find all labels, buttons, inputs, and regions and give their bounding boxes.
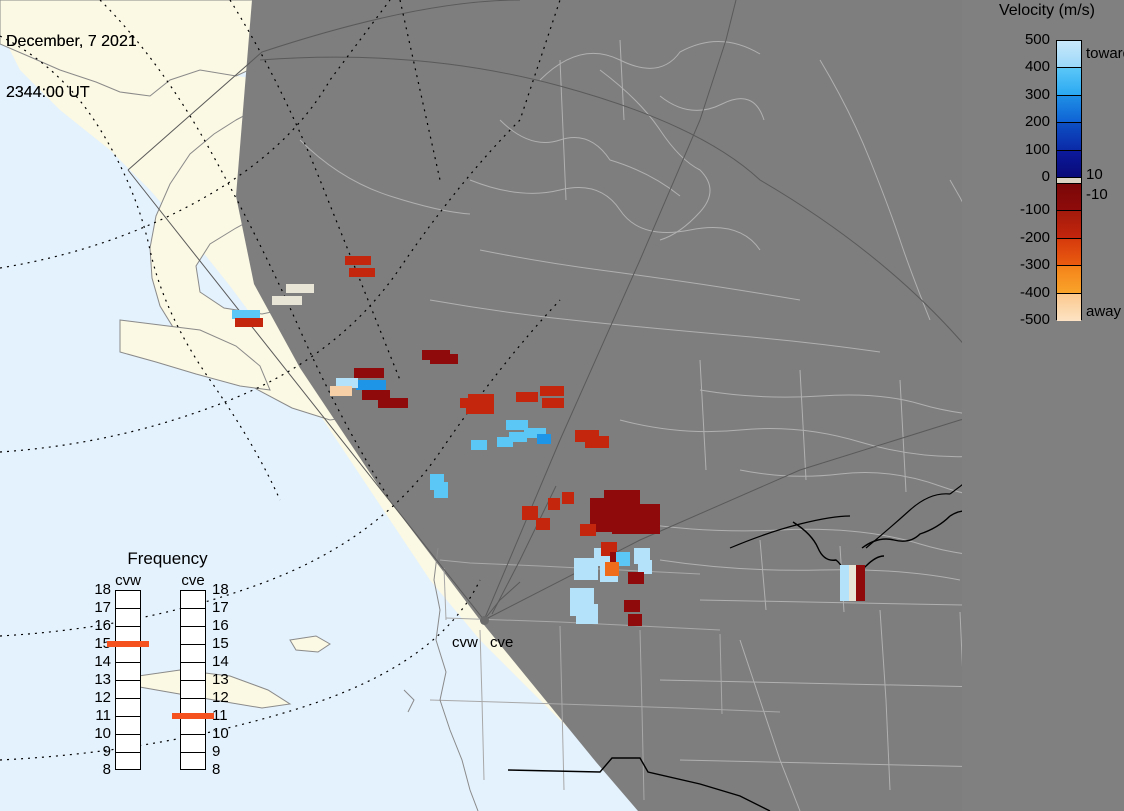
velocity-cell[interactable] bbox=[590, 498, 628, 532]
velocity-cell[interactable] bbox=[286, 284, 314, 293]
ground-scatter-block bbox=[512, 442, 572, 466]
colorbar-tick: 100 bbox=[994, 141, 1050, 158]
colorbar-band bbox=[1057, 294, 1081, 321]
velocity-cell[interactable] bbox=[232, 310, 260, 319]
ground-scatter-block bbox=[610, 580, 652, 602]
velocity-cell[interactable] bbox=[628, 572, 644, 584]
ground-scatter-block bbox=[704, 518, 744, 540]
superdarn-velocity-map: December, 7 2021 2344:00 UT cvw cve Velo… bbox=[0, 0, 1124, 811]
ground-scatter-block bbox=[318, 340, 378, 360]
frequency-marker-cve bbox=[172, 713, 214, 719]
velocity-cell[interactable] bbox=[638, 560, 652, 574]
frequency-scale-box-cvw[interactable] bbox=[115, 590, 141, 770]
velocity-cell[interactable] bbox=[460, 398, 488, 408]
frequency-scale-name-cvw: cvw bbox=[107, 572, 149, 589]
frequency-cell bbox=[116, 681, 140, 699]
velocity-cell[interactable] bbox=[430, 474, 444, 490]
frequency-tick-cvw: 18 bbox=[85, 581, 111, 598]
ground-scatter-block bbox=[646, 540, 692, 562]
timestamp-block: December, 7 2021 2344:00 UT bbox=[6, 0, 137, 135]
velocity-cell[interactable] bbox=[594, 548, 616, 566]
ground-scatter-block bbox=[420, 344, 482, 366]
frequency-marker-cvw bbox=[107, 641, 149, 647]
ground-scatter-block bbox=[668, 446, 714, 468]
velocity-cell[interactable] bbox=[471, 440, 487, 450]
velocity-cell[interactable] bbox=[356, 380, 386, 390]
ground-scatter-block bbox=[664, 394, 720, 416]
velocity-cell[interactable] bbox=[540, 386, 564, 396]
colorbar-tick: -100 bbox=[994, 201, 1050, 218]
colorbar-tick: -200 bbox=[994, 229, 1050, 246]
time-label: 2344:00 UT bbox=[6, 84, 137, 101]
ground-scatter-block bbox=[498, 318, 560, 338]
velocity-cell[interactable] bbox=[610, 552, 624, 566]
ground-scatter-block bbox=[736, 584, 770, 606]
colorbar-band bbox=[1057, 123, 1081, 150]
frequency-tick-cve: 12 bbox=[212, 689, 238, 706]
ground-scatter-block bbox=[666, 420, 716, 442]
ground-scatter-block bbox=[578, 604, 614, 624]
ground-scatter-block bbox=[598, 496, 646, 518]
colorbar-band bbox=[1057, 151, 1081, 178]
ground-scatter-block bbox=[616, 432, 666, 458]
frequency-cell bbox=[116, 753, 140, 771]
ground-scatter-block bbox=[486, 390, 548, 416]
frequency-tick-cvw: 8 bbox=[85, 761, 111, 778]
frequency-tick-cve: 14 bbox=[212, 653, 238, 670]
frequency-tick-cvw: 12 bbox=[85, 689, 111, 706]
ground-scatter-block bbox=[576, 514, 624, 536]
great-lakes-outline bbox=[793, 511, 976, 580]
ground-scatter-block bbox=[626, 458, 668, 482]
frequency-tick-cvw: 14 bbox=[85, 653, 111, 670]
frequency-tick-cvw: 16 bbox=[85, 617, 111, 634]
velocity-cell[interactable] bbox=[570, 588, 594, 616]
ground-scatter-block bbox=[572, 582, 610, 604]
velocity-cell[interactable] bbox=[616, 552, 630, 566]
ground-scatter-block bbox=[452, 444, 512, 468]
ground-scatter-block bbox=[490, 348, 530, 360]
frequency-tick-cve: 17 bbox=[212, 599, 238, 616]
ground-scatter-block bbox=[608, 406, 664, 432]
frequency-scale-name-cve: cve bbox=[172, 572, 214, 589]
velocity-cell[interactable] bbox=[574, 558, 598, 580]
colorbar-tick: 500 bbox=[994, 31, 1050, 48]
velocity-cell[interactable] bbox=[634, 548, 650, 564]
velocity-cell[interactable] bbox=[536, 518, 550, 530]
velocity-cell[interactable] bbox=[524, 428, 546, 438]
ground-scatter-block bbox=[646, 506, 682, 528]
velocity-cell[interactable] bbox=[562, 492, 574, 504]
velocity-cell[interactable] bbox=[422, 350, 450, 360]
ground-scatter-block bbox=[682, 494, 726, 516]
velocity-cell[interactable] bbox=[466, 404, 494, 414]
velocity-cell[interactable] bbox=[434, 482, 448, 498]
velocity-cell[interactable] bbox=[575, 430, 599, 442]
colorbar-side-minus10: -10 bbox=[1086, 186, 1108, 203]
colorbar-band bbox=[1057, 96, 1081, 123]
frequency-cell bbox=[181, 627, 205, 645]
ground-scatter-block bbox=[364, 482, 418, 506]
ground-scatter-block bbox=[496, 416, 558, 442]
ground-scatter-block bbox=[558, 420, 616, 446]
ground-scatter-block bbox=[668, 370, 722, 392]
frequency-cell bbox=[181, 609, 205, 627]
velocity-cell[interactable] bbox=[349, 268, 375, 277]
ground-scatter-block bbox=[548, 394, 608, 420]
colorbar-band bbox=[1057, 239, 1081, 266]
ground-scatter-block bbox=[296, 382, 358, 406]
colorbar-side-plus10: 10 bbox=[1086, 166, 1103, 183]
velocity-cell[interactable] bbox=[272, 296, 302, 305]
ground-scatter-block bbox=[392, 450, 452, 474]
velocity-cell[interactable] bbox=[235, 318, 263, 327]
ground-scatter-block bbox=[420, 368, 482, 392]
ground-scatter-block bbox=[476, 470, 534, 494]
ground-scatter-block bbox=[572, 446, 626, 470]
radar-site-dot bbox=[480, 616, 489, 625]
frequency-tick-cve: 9 bbox=[212, 743, 238, 760]
ground-scatter-block bbox=[534, 470, 590, 494]
ground-scatter-block bbox=[654, 606, 694, 626]
velocity-cell[interactable] bbox=[840, 565, 849, 601]
velocity-cell[interactable] bbox=[522, 506, 538, 520]
velocity-cell[interactable] bbox=[430, 354, 458, 364]
ground-scatter-block bbox=[692, 548, 728, 570]
ground-scatter-block bbox=[300, 406, 362, 432]
ground-scatter-block bbox=[494, 342, 528, 352]
colorbar-tick: -300 bbox=[994, 256, 1050, 273]
ground-scatter-block bbox=[566, 560, 606, 582]
velocity-cell[interactable] bbox=[624, 600, 640, 612]
west-coast-outline bbox=[404, 548, 478, 811]
velocity-cell[interactable] bbox=[542, 398, 564, 408]
velocity-cell[interactable] bbox=[516, 392, 538, 402]
velocity-cell[interactable] bbox=[506, 420, 528, 430]
colorbar-band bbox=[1057, 41, 1081, 68]
frequency-tick-cve: 10 bbox=[212, 725, 238, 742]
colorbar-band bbox=[1057, 211, 1081, 238]
frequency-tick-cvw: 11 bbox=[85, 707, 111, 724]
velocity-cell[interactable] bbox=[628, 614, 642, 626]
velocity-cell[interactable] bbox=[345, 256, 371, 265]
ground-scatter-block bbox=[482, 364, 544, 388]
colorbar-tick: 200 bbox=[994, 113, 1050, 130]
ground-scatter-block bbox=[530, 516, 576, 538]
frequency-cell bbox=[181, 735, 205, 753]
velocity-cell[interactable] bbox=[509, 432, 527, 442]
colorbar-band bbox=[1057, 68, 1081, 95]
colorbar-tick: 300 bbox=[994, 86, 1050, 103]
velocity-cell[interactable] bbox=[580, 524, 596, 536]
colorbar-tick: 0 bbox=[994, 168, 1050, 185]
ground-scatter-block bbox=[606, 558, 650, 580]
frequency-title: Frequency bbox=[85, 549, 250, 569]
velocity-cell[interactable] bbox=[497, 437, 513, 447]
frequency-tick-cvw: 13 bbox=[85, 671, 111, 688]
colorbar-band bbox=[1057, 184, 1081, 211]
ground-scatter-block bbox=[734, 562, 770, 584]
ground-scatter-block bbox=[312, 432, 372, 458]
frequency-tick-cve: 16 bbox=[212, 617, 238, 634]
colorbar-tick: -500 bbox=[994, 311, 1050, 328]
ground-scatter-block bbox=[600, 536, 646, 558]
velocity-cell[interactable] bbox=[601, 542, 617, 556]
frequency-cell bbox=[116, 717, 140, 735]
ground-scatter-block bbox=[670, 528, 704, 550]
ground-scatter-block bbox=[650, 562, 696, 584]
velocity-cell[interactable] bbox=[354, 368, 384, 378]
ground-scatter-block bbox=[482, 340, 544, 362]
frequency-tick-cve: 8 bbox=[212, 761, 238, 778]
ground-scatter-block bbox=[620, 336, 680, 358]
ground-scatter-block bbox=[372, 424, 434, 450]
ground-scatter-block bbox=[652, 584, 696, 606]
frequency-cell bbox=[181, 645, 205, 663]
ground-scatter-block bbox=[424, 392, 486, 418]
ground-scatter-block bbox=[590, 476, 638, 500]
frequency-cell bbox=[181, 681, 205, 699]
frequency-tick-cve: 13 bbox=[212, 671, 238, 688]
radar-fov-outline bbox=[128, 0, 1100, 620]
ground-scatter-block bbox=[606, 382, 664, 406]
velocity-cell[interactable] bbox=[362, 390, 390, 400]
colorbar-side-toward: toward bbox=[1086, 45, 1124, 62]
frequency-cell bbox=[116, 645, 140, 663]
ground-scatter-block bbox=[604, 358, 664, 380]
ground-scatter-block bbox=[418, 474, 476, 498]
ground-scatter-block bbox=[498, 494, 548, 516]
ground-scatter-block bbox=[334, 458, 392, 482]
velocity-cell[interactable] bbox=[336, 378, 358, 388]
ground-scatter-block bbox=[434, 418, 496, 444]
ground-scatter-block bbox=[358, 374, 420, 398]
ground-scatter-block bbox=[696, 592, 732, 614]
ground-scatter-block bbox=[360, 352, 420, 374]
us-mexico-border bbox=[508, 758, 770, 811]
site-label-cvw: cvw bbox=[452, 634, 478, 651]
velocity-cell[interactable] bbox=[604, 490, 640, 508]
frequency-cell bbox=[116, 735, 140, 753]
frequency-tick-cve: 18 bbox=[212, 581, 238, 598]
velocity-cell[interactable] bbox=[576, 604, 598, 624]
colorbar-tick: 400 bbox=[994, 58, 1050, 75]
frequency-cell bbox=[116, 609, 140, 627]
colorbar-band bbox=[1057, 266, 1081, 293]
frequency-tick-cvw: 17 bbox=[85, 599, 111, 616]
frequency-tick-cve: 11 bbox=[212, 707, 238, 724]
velocity-cell[interactable] bbox=[330, 386, 352, 396]
frequency-cell bbox=[181, 591, 205, 609]
state-boundaries-day bbox=[430, 560, 780, 800]
frequency-tick-cvw: 9 bbox=[85, 743, 111, 760]
date-label: December, 7 2021 bbox=[6, 33, 137, 50]
ground-scatter-block bbox=[560, 322, 620, 342]
colorbar-gradient[interactable] bbox=[1056, 40, 1082, 320]
ground-scatter-block bbox=[300, 360, 360, 382]
frequency-cell bbox=[181, 753, 205, 771]
frequency-cell bbox=[181, 717, 205, 735]
colorbar-title: Velocity (m/s) bbox=[970, 2, 1124, 20]
velocity-cell[interactable] bbox=[600, 566, 618, 582]
velocity-cell[interactable] bbox=[585, 436, 609, 448]
frequency-cell bbox=[116, 699, 140, 717]
frequency-tick-cvw: 10 bbox=[85, 725, 111, 742]
velocity-cell[interactable] bbox=[612, 504, 660, 534]
frequency-cell bbox=[116, 591, 140, 609]
velocity-cell[interactable] bbox=[537, 434, 551, 444]
velocity-scatter-cells[interactable] bbox=[232, 256, 865, 626]
ground-scatter-block bbox=[544, 368, 606, 392]
ground-scatter-block bbox=[544, 344, 604, 366]
ground-scatter-block bbox=[614, 602, 654, 622]
frequency-cell bbox=[181, 663, 205, 681]
ground-scatter-swath bbox=[330, 290, 700, 512]
velocity-cell[interactable] bbox=[849, 565, 856, 601]
ground-scatter-block bbox=[624, 518, 670, 540]
frequency-panel: Frequency cvw18171615141312111098cve1817… bbox=[85, 545, 250, 795]
ground-scatter-block bbox=[556, 538, 600, 560]
ground-scatter-block bbox=[728, 540, 766, 562]
colorbar-side-away: away bbox=[1086, 303, 1121, 320]
velocity-cell[interactable] bbox=[856, 565, 865, 601]
ground-scatter-block bbox=[438, 322, 498, 342]
frequency-cell bbox=[116, 663, 140, 681]
ground-scatter-block bbox=[378, 330, 438, 350]
ground-scatter-block bbox=[674, 470, 718, 492]
velocity-cell[interactable] bbox=[548, 498, 560, 510]
ground-scatter-block bbox=[664, 346, 714, 368]
ground-scatter-block bbox=[362, 398, 424, 424]
ground-scatter-block bbox=[696, 570, 734, 592]
site-label-cve: cve bbox=[490, 634, 513, 651]
velocity-cell[interactable] bbox=[468, 394, 494, 404]
colorbar-tick: -400 bbox=[994, 284, 1050, 301]
ground-scatter-block bbox=[548, 492, 598, 514]
frequency-tick-cve: 15 bbox=[212, 635, 238, 652]
colorbar-panel: Velocity (m/s) 5004003002001000-100-200-… bbox=[962, 0, 1124, 811]
ground-scatter-block bbox=[638, 486, 674, 510]
frequency-scale-box-cve[interactable] bbox=[180, 590, 206, 770]
velocity-cell[interactable] bbox=[378, 398, 408, 408]
velocity-cell[interactable] bbox=[605, 562, 619, 576]
